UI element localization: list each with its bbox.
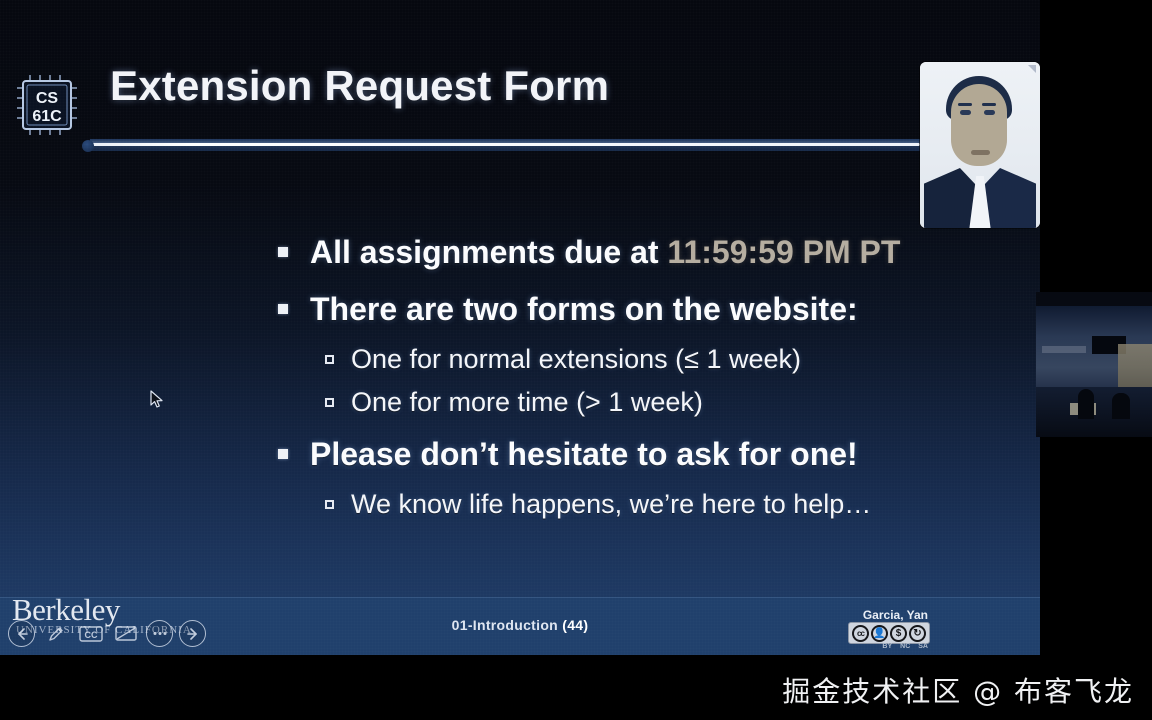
- slide-stage: CS 61C Extension Request Form All assign…: [0, 0, 1040, 655]
- svg-text:CC: CC: [84, 630, 97, 640]
- author-name: Garcia, Yan: [863, 608, 928, 622]
- cc-sa-share-icon: ↻: [909, 625, 926, 642]
- sub-bullet-text: One for more time (> 1 week): [351, 385, 703, 420]
- deck-name: 01-Introduction: [452, 617, 558, 633]
- cc-icon: cc: [852, 625, 869, 642]
- chip-logo-line1: CS: [36, 90, 59, 107]
- room-person: [1078, 389, 1094, 419]
- sub-bullet-item: One for more time (> 1 week): [325, 385, 1018, 420]
- cc-label-by: BY: [882, 643, 892, 650]
- cc-label-nc: NC: [900, 643, 910, 650]
- presenter-toolbar[interactable]: CC: [8, 620, 206, 647]
- bullet-text: All assignments due at 11:59:59 PM PT: [310, 232, 900, 272]
- sub-bullet-group: One for normal extensions (≤ 1 week) One…: [278, 342, 1018, 420]
- filled-square-bullet-icon: [278, 449, 288, 459]
- bullet-text-accent: 11:59:59 PM PT: [667, 234, 900, 270]
- cc-nc-dollar-icon: $: [890, 625, 907, 642]
- room-light-wall: [1118, 344, 1152, 388]
- slide-number: (44): [562, 617, 588, 633]
- slide-title: Extension Request Form: [110, 62, 609, 110]
- slide-body: All assignments due at 11:59:59 PM PT Th…: [278, 232, 1018, 536]
- room-wall: [1036, 306, 1152, 394]
- creative-commons-license-badge: cc 👤 $ ↻: [848, 622, 930, 644]
- sub-bullet-text: One for normal extensions (≤ 1 week): [351, 342, 801, 377]
- title-underline-rule: [88, 138, 920, 154]
- next-slide-button[interactable]: [179, 620, 206, 647]
- sub-bullet-item: One for normal extensions (≤ 1 week): [325, 342, 1018, 377]
- filled-square-bullet-icon: [278, 304, 288, 314]
- room-person: [1112, 393, 1130, 419]
- bullet-item: All assignments due at 11:59:59 PM PT: [278, 232, 1018, 272]
- hollow-square-bullet-icon: [325, 355, 334, 364]
- bullet-item: There are two forms on the website:: [278, 289, 1018, 329]
- room-desk: [1036, 387, 1152, 437]
- previous-slide-button[interactable]: [8, 620, 35, 647]
- creative-commons-labels: BY NC SA: [850, 643, 928, 650]
- room-monitor-glow: [1070, 403, 1096, 415]
- hollow-square-bullet-icon: [325, 398, 334, 407]
- sub-bullet-text: We know life happens, we’re here to help…: [351, 487, 871, 522]
- bullet-text: Please don’t hesitate to ask for one!: [310, 434, 858, 474]
- sub-bullet-group: We know life happens, we’re here to help…: [278, 487, 1018, 522]
- slide-footer-band: Berkeley UNIVERSITY OF CALIFORNIA 01-Int…: [0, 597, 1040, 655]
- slide-header: CS 61C Extension Request Form: [0, 60, 1040, 160]
- cc-label-sa: SA: [918, 643, 928, 650]
- pen-annotate-button[interactable]: [41, 620, 70, 647]
- bullet-item: Please don’t hesitate to ask for one!: [278, 434, 1018, 474]
- cc-by-person-icon: 👤: [871, 625, 888, 642]
- chip-logo-line2: 61C: [32, 108, 62, 125]
- room-whiteboard: [1042, 346, 1086, 353]
- hollow-square-bullet-icon: [325, 500, 334, 509]
- filled-square-bullet-icon: [278, 247, 288, 257]
- more-options-button[interactable]: [146, 620, 173, 647]
- room-camera-panel[interactable]: [1036, 292, 1152, 437]
- sub-bullet-item: We know life happens, we’re here to help…: [325, 487, 1018, 522]
- bullet-text-plain: All assignments due at: [310, 234, 667, 270]
- watermark-text: 掘金技术社区 @ 布客飞龙: [782, 670, 1134, 710]
- present-screen-button[interactable]: [111, 620, 140, 647]
- cs61c-chip-logo-icon: CS 61C: [14, 72, 80, 138]
- closed-captions-button[interactable]: CC: [76, 620, 105, 647]
- bullet-text: There are two forms on the website:: [310, 289, 858, 329]
- room-projection-screen: [1092, 336, 1126, 354]
- slide-counter: 01-Introduction (44): [452, 617, 589, 633]
- mouse-cursor: [150, 390, 164, 410]
